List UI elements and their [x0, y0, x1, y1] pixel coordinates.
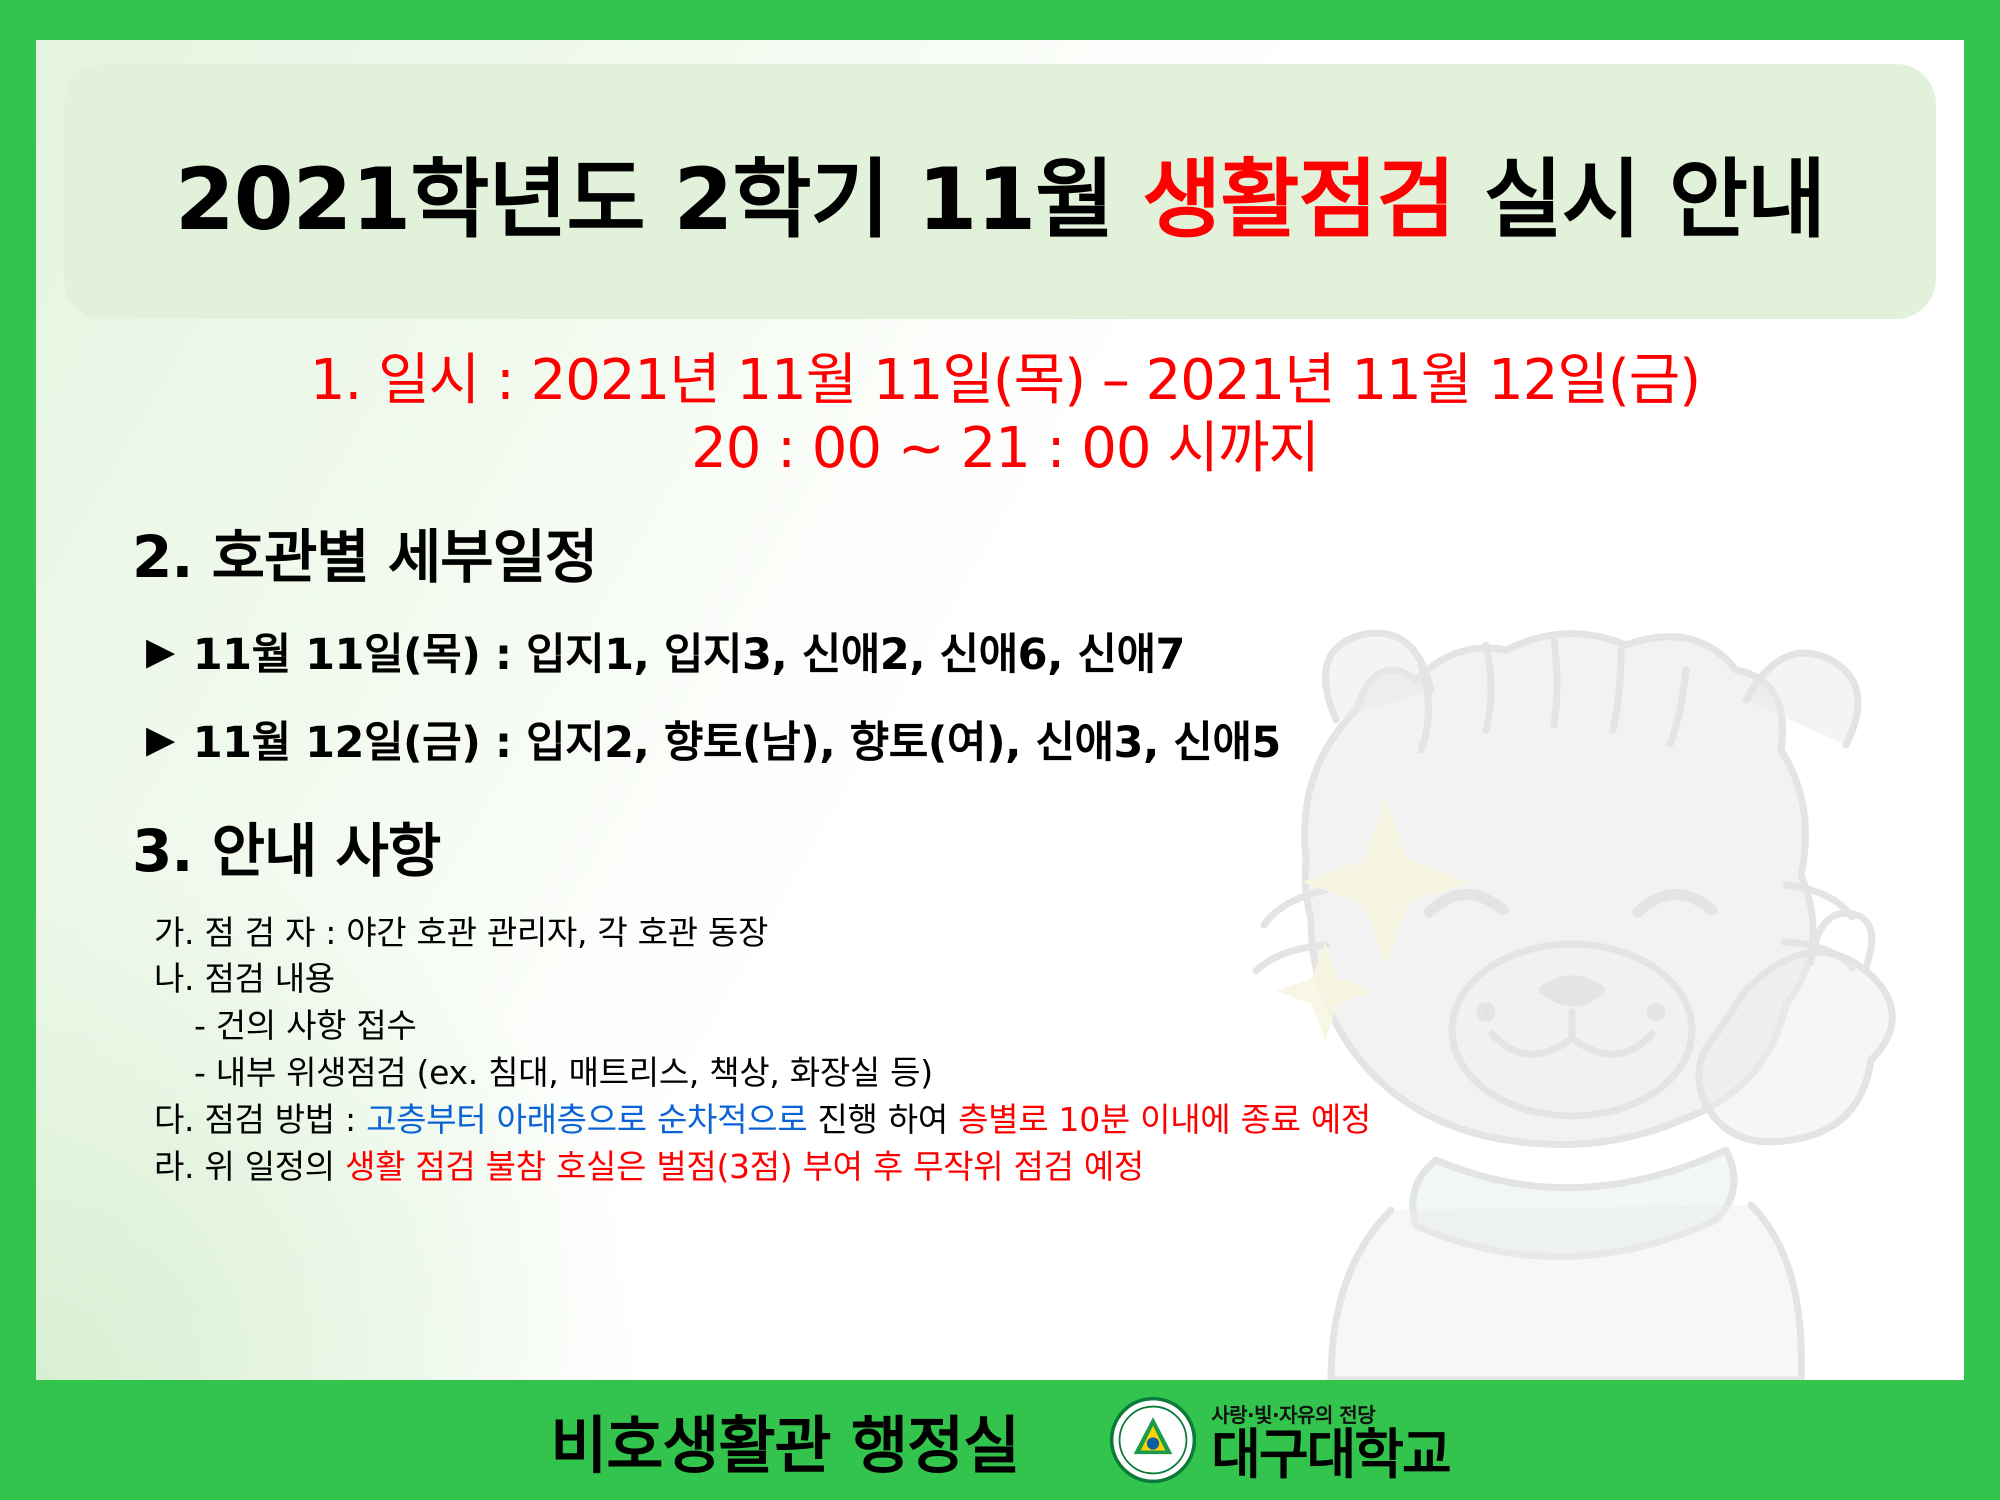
university-seal-icon — [1109, 1396, 1197, 1484]
title-part-1: 2021학년도 2학기 11월 — [175, 150, 1142, 250]
section-3-heading: 3. 안내 사항 — [132, 804, 1934, 888]
dorm-schedule-item-1: ▶ 11월 11일(목) : 입지1, 입지3, 신애2, 신애6, 신애7 — [146, 620, 1934, 682]
section-2-heading: 2. 호관별 세부일정 — [132, 510, 1934, 594]
notice-details: 가. 점 검 자 : 야간 호관 관리자, 각 호관 동장 나. 점검 내용 -… — [154, 910, 1934, 1191]
notice-da-prefix: 다. 점검 방법 : — [154, 1100, 366, 1139]
poster-root: 2021학년도 2학기 11월 생활점검 실시 안내 1. 일시 : 2021년… — [0, 0, 2000, 1500]
notice-ra-prefix: 라. 위 일정의 — [154, 1147, 345, 1186]
notice-da-blue: 고층부터 아래층으로 순차적으로 — [366, 1100, 807, 1139]
title-banner: 2021학년도 2학기 11월 생활점검 실시 안내 — [64, 64, 1936, 319]
notice-ra-red: 생활 점검 불참 호실은 벌점(3점) 부여 후 무작위 점검 예정 — [345, 1147, 1144, 1186]
notice-da-mid: 진행 하여 — [807, 1100, 958, 1139]
brand-name: 대구대학교 — [1211, 1428, 1449, 1482]
issuing-office: 비호생활관 행정실 — [550, 1395, 1019, 1485]
notice-item-na-sub-2: - 내부 위생점검 (ex. 침대, 매트리스, 책상, 화장실 등) — [154, 1050, 1934, 1097]
schedule-date-block: 1. 일시 : 2021년 11월 11일(목) – 2021년 11월 12일… — [66, 347, 1934, 484]
university-brand: 사랑·빛·자유의 전당 대구대학교 — [1109, 1396, 1449, 1484]
notice-item-ra: 라. 위 일정의 생활 점검 불참 호실은 벌점(3점) 부여 후 무작위 점검… — [154, 1144, 1934, 1191]
title-highlight: 생활점검 — [1142, 150, 1454, 250]
brand-text-block: 사랑·빛·자유의 전당 대구대학교 — [1211, 1399, 1449, 1482]
page-title: 2021학년도 2학기 11월 생활점검 실시 안내 — [175, 129, 1825, 254]
notice-item-da: 다. 점검 방법 : 고층부터 아래층으로 순차적으로 진행 하여 층별로 10… — [154, 1097, 1934, 1144]
poster-card: 2021학년도 2학기 11월 생활점검 실시 안내 1. 일시 : 2021년… — [36, 40, 1964, 1380]
dorm-schedule-text-1: 11월 11일(목) : 입지1, 입지3, 신애2, 신애6, 신애7 — [193, 620, 1185, 682]
notice-item-na-sub-1: - 건의 사항 접수 — [154, 1003, 1934, 1050]
notice-item-na: 나. 점검 내용 — [154, 956, 1934, 1003]
title-part-2: 실시 안내 — [1455, 150, 1825, 250]
dorm-schedule-text-2: 11월 12일(금) : 입지2, 향토(남), 향토(여), 신애3, 신애5 — [193, 708, 1281, 770]
triangle-bullet-icon: ▶ — [146, 720, 175, 758]
triangle-bullet-icon: ▶ — [146, 632, 175, 670]
notice-item-ga: 가. 점 검 자 : 야간 호관 관리자, 각 호관 동장 — [154, 910, 1934, 957]
notice-da-red: 층별로 10분 이내에 종료 예정 — [958, 1100, 1371, 1139]
schedule-date-line: 1. 일시 : 2021년 11월 11일(목) – 2021년 11월 12일… — [310, 348, 1700, 413]
poster-footer: 비호생활관 행정실 사랑·빛·자유의 전당 대구대학교 — [0, 1380, 2000, 1500]
schedule-time-line: 20 : 00 ~ 21 : 00 시까지 — [76, 415, 1934, 483]
dorm-schedule-item-2: ▶ 11월 12일(금) : 입지2, 향토(남), 향토(여), 신애3, 신… — [146, 708, 1934, 770]
poster-body: 1. 일시 : 2021년 11월 11일(목) – 2021년 11월 12일… — [36, 347, 1964, 1191]
